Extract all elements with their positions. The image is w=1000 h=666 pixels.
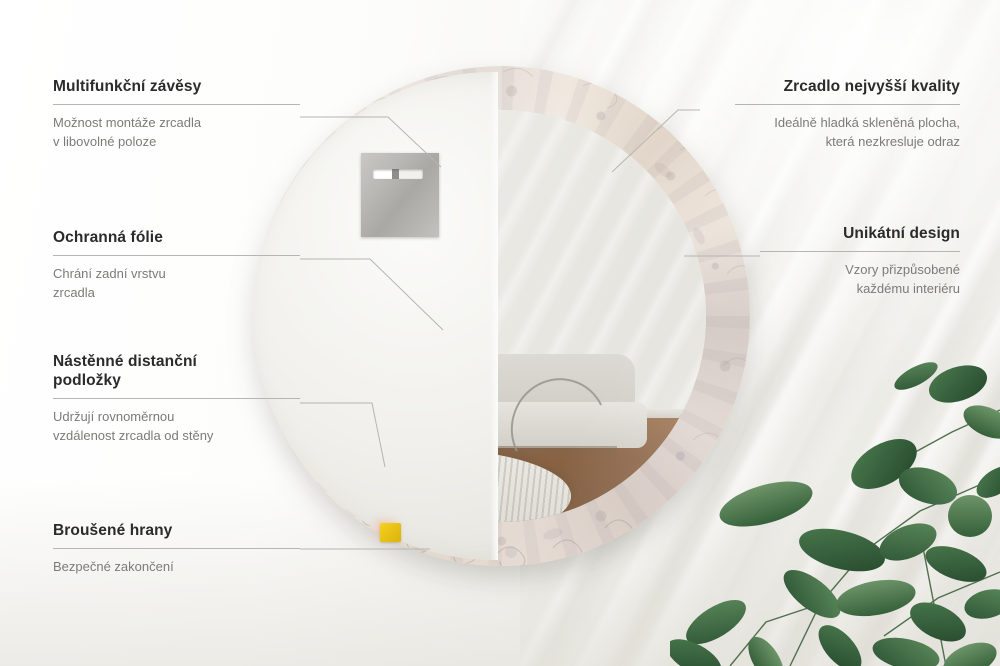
infographic-canvas: Multifunkční závěsy Možnost montáže zrca… <box>0 0 1000 666</box>
callout-body: Vzory přizpůsobené každému interiéru <box>760 261 960 299</box>
callout-body: Chrání zadní vrstvu zrcadla <box>53 265 300 303</box>
callout-body-line1: Ideálně hladká skleněná plocha, <box>774 115 960 130</box>
callout-unique-design: Unikátní design Vzory přizpůsobené každé… <box>760 225 960 299</box>
callout-body-line2: každému interiéru <box>857 281 960 296</box>
callout-rule <box>760 251 960 252</box>
callout-body-line1: Udržují rovnoměrnou <box>53 409 174 424</box>
callout-rule <box>53 398 300 399</box>
wall-spacer-pad <box>380 523 401 542</box>
callout-body-line2: vzdálenost zrcadla od stěny <box>53 428 213 443</box>
callout-multifunctional-hangers: Multifunkční závěsy Možnost montáže zrca… <box>53 78 300 152</box>
callout-rule <box>735 104 960 105</box>
callout-title: Broušené hrany <box>53 522 300 541</box>
callout-rule <box>53 104 300 105</box>
callout-title: Ochranná fólie <box>53 229 300 248</box>
callout-body-line1: Možnost montáže zrcadla <box>53 115 201 130</box>
callout-body: Bezpečné zakončení <box>53 558 300 577</box>
callout-body: Ideálně hladká skleněná plocha, která ne… <box>735 114 960 152</box>
callout-polished-edges: Broušené hrany Bezpečné zakončení <box>53 522 300 577</box>
mirror-split-seam <box>491 72 498 560</box>
callout-body: Možnost montáže zrcadla v libovolné polo… <box>53 114 300 152</box>
callout-rule <box>53 255 300 256</box>
callout-body-line1: Chrání zadní vrstvu <box>53 266 166 281</box>
callout-title: Zrcadlo nejvyšší kvality <box>735 78 960 97</box>
callout-title-line2: podložky <box>53 372 121 389</box>
callout-rule <box>53 548 300 549</box>
hanger-plate <box>361 153 439 237</box>
callout-body: Udržují rovnoměrnou vzdálenost zrcadla o… <box>53 408 300 446</box>
callout-protective-foil: Ochranná fólie Chrání zadní vrstvu zrcad… <box>53 229 300 303</box>
callout-body-line2: v libovolné poloze <box>53 134 156 149</box>
callout-body-line2: která nezkresluje odraz <box>826 134 960 149</box>
callout-body-line2: zrcadla <box>53 285 95 300</box>
callout-title-line1: Nástěnné distanční <box>53 353 197 370</box>
callout-wall-spacers: Nástěnné distanční podložky Udržují rovn… <box>53 353 300 446</box>
callout-title: Unikátní design <box>760 225 960 244</box>
mirror-product <box>253 66 750 566</box>
callout-body-line1: Bezpečné zakončení <box>53 559 174 574</box>
callout-body-line1: Vzory přizpůsobené <box>845 262 960 277</box>
callout-top-quality-mirror: Zrcadlo nejvyšší kvality Ideálně hladká … <box>735 78 960 152</box>
callout-title: Nástěnné distanční podložky <box>53 353 300 391</box>
callout-title: Multifunkční závěsy <box>53 78 300 97</box>
hanger-keyhole-slot <box>373 169 423 179</box>
